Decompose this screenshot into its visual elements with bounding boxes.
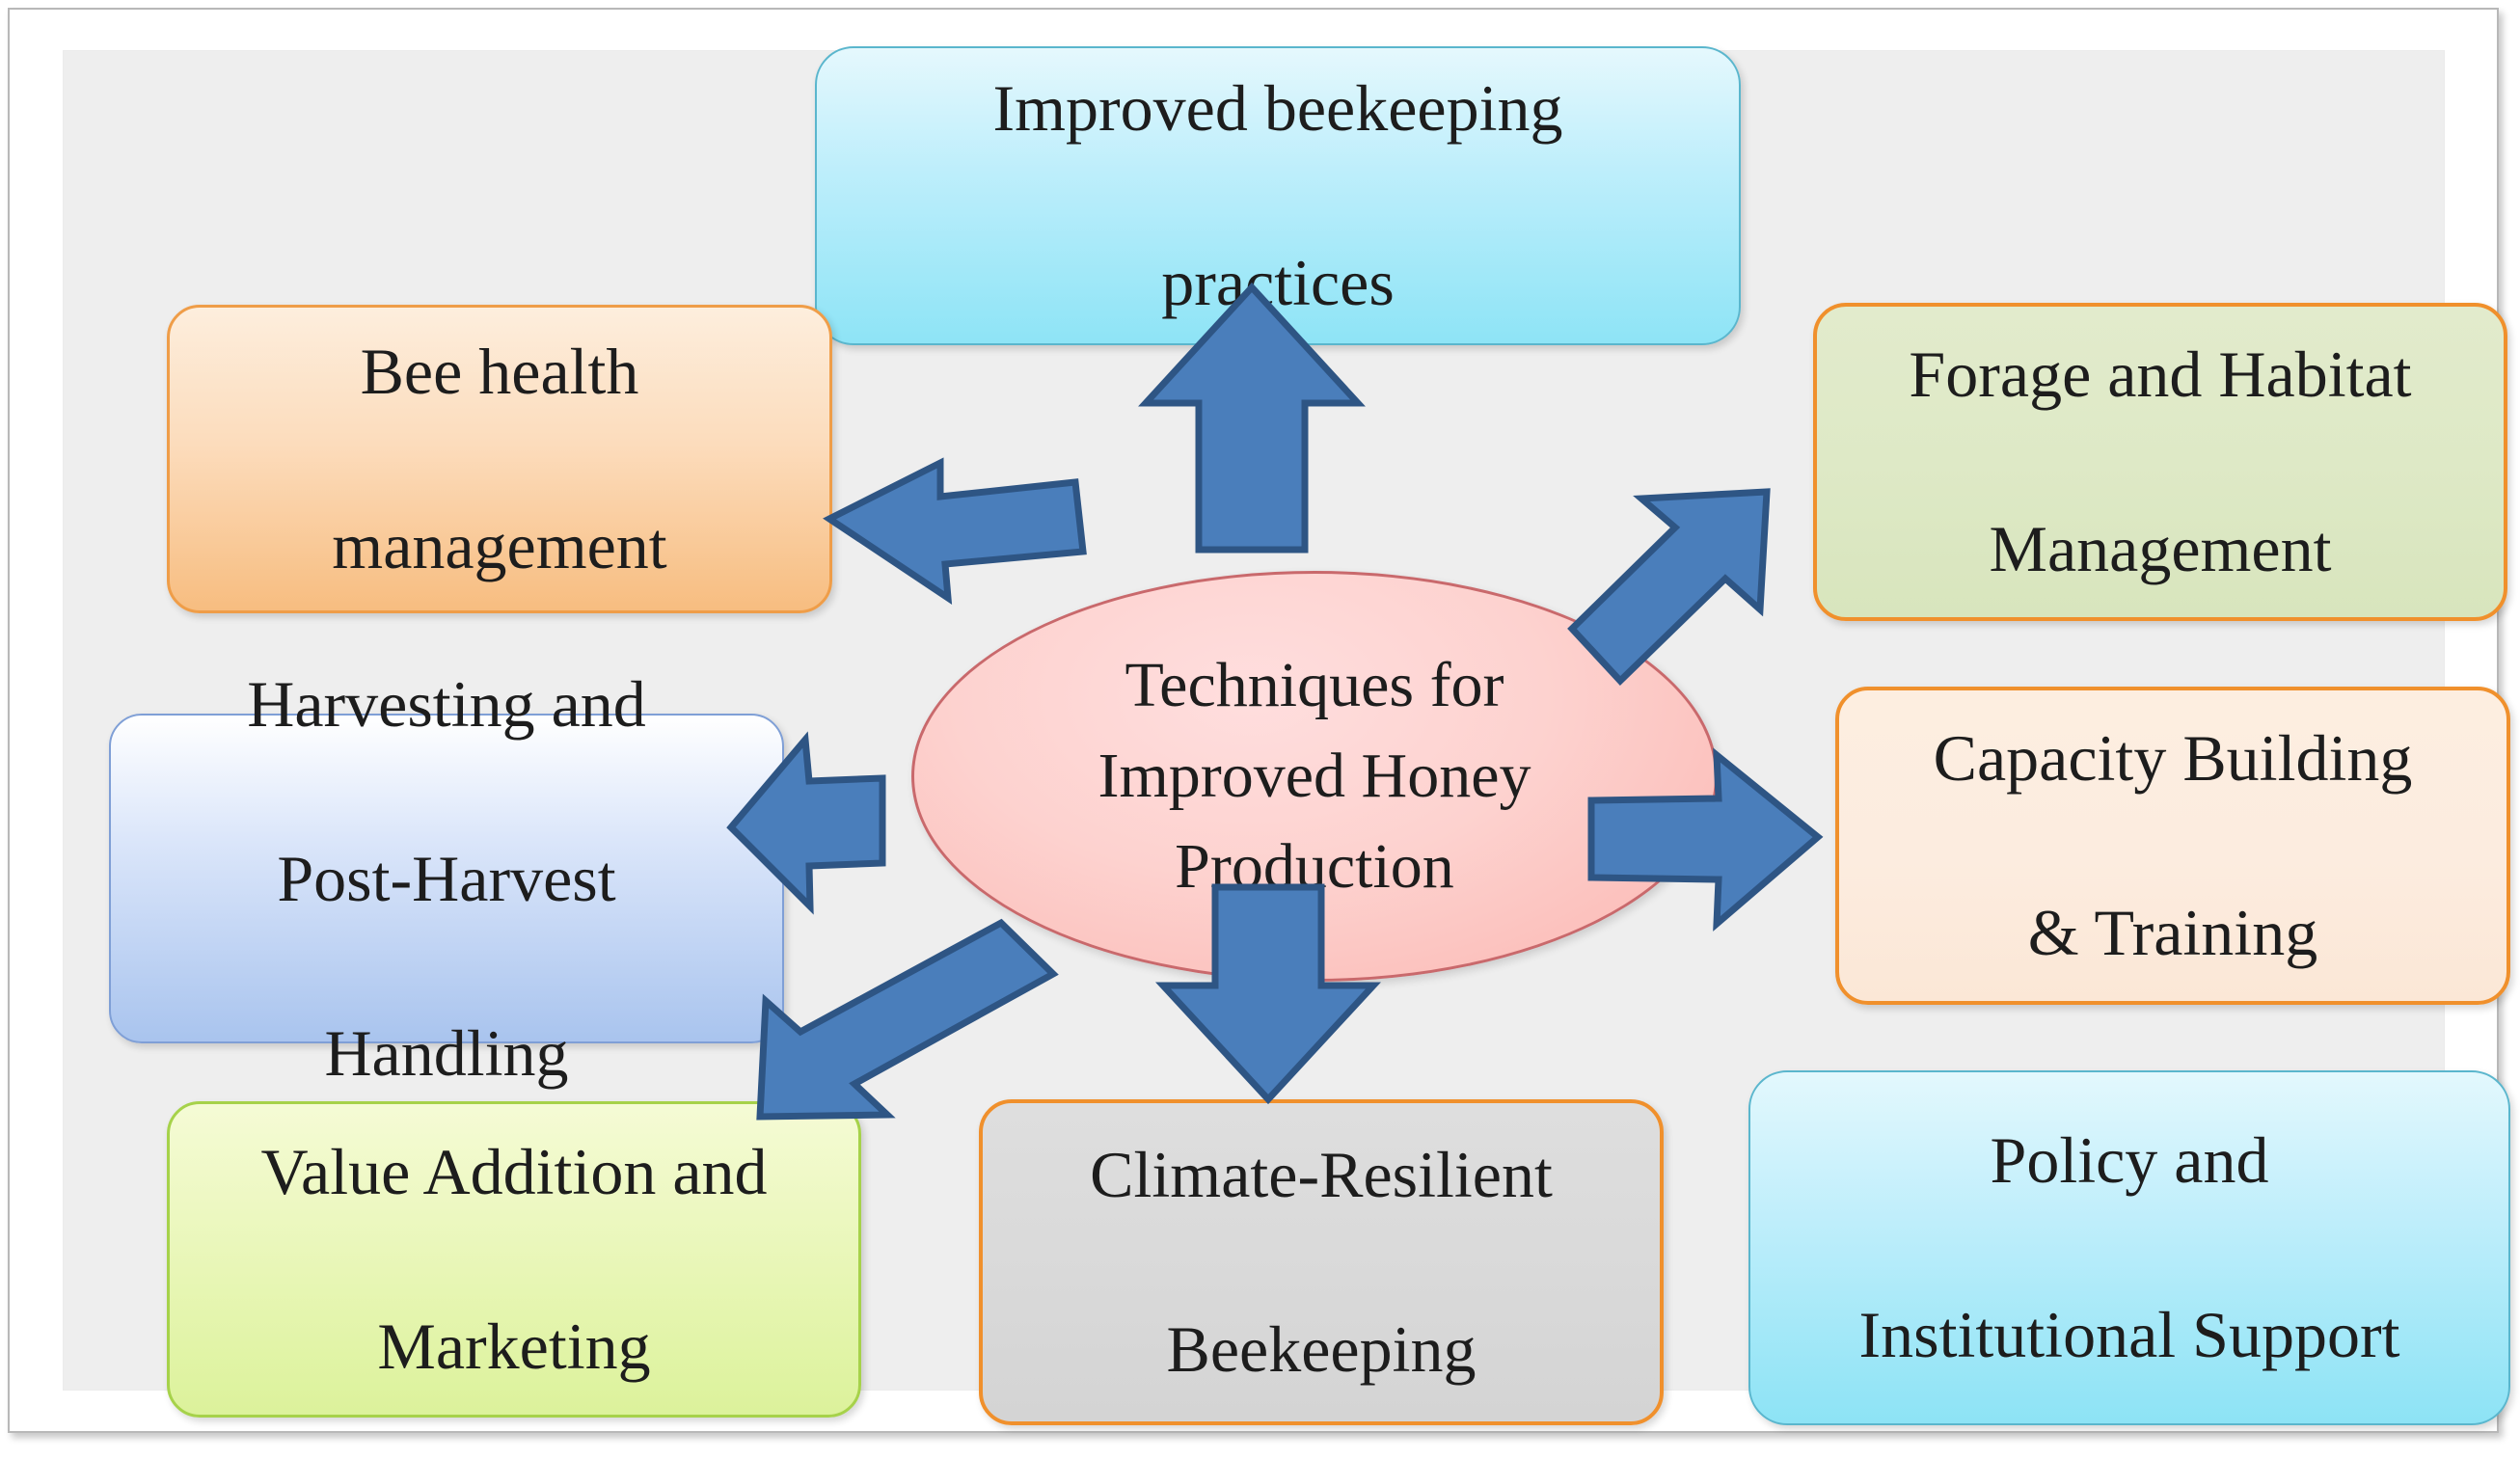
node-label-line-1: Improved beekeeping [834,65,1721,151]
node-label-line-2: Post-Harvest [128,835,765,922]
node-label-line-2: Beekeeping [1000,1306,1642,1392]
node-forage-and-habitat-management[interactable]: Forage and Habitat Management [1813,303,2507,621]
node-label-line-1: Capacity Building [1856,715,2489,801]
node-label: Bee health management [187,328,812,589]
node-label: Policy and Institutional Support [1768,1117,2491,1378]
node-label: Climate-Resilient Beekeeping [1000,1131,1642,1392]
node-label-line-1: Policy and [1768,1117,2491,1203]
node-label-line-1: Bee health [187,328,812,415]
node-harvesting-and-post-harvest-handling[interactable]: Harvesting and Post-Harvest Handling [109,714,784,1043]
node-label-line-1: Climate-Resilient [1000,1131,1642,1218]
node-label: Forage and Habitat Management [1834,331,2486,592]
hub-label-line-3: Production [1175,831,1454,902]
node-value-addition-and-marketing[interactable]: Value Addition and Marketing [167,1101,861,1418]
node-label: Value Addition and Marketing [187,1128,841,1390]
node-label: Capacity Building & Training [1856,715,2489,976]
node-label-line-3: Handling [128,1010,765,1096]
hub-label: Techniques for Improved Honey Production [1097,640,1531,911]
node-improved-beekeeping-practices[interactable]: Improved beekeeping practices [815,46,1741,345]
node-label-line-1: Harvesting and [128,661,765,747]
node-label: Improved beekeeping practices [834,65,1721,326]
node-label-line-2: Institutional Support [1768,1291,2491,1378]
diagram-frame: Improved beekeeping practices Bee health… [8,8,2499,1433]
hub-node-techniques-for-improved-honey-production[interactable]: Techniques for Improved Honey Production [911,571,1718,982]
node-bee-health-management[interactable]: Bee health management [167,305,832,613]
node-climate-resilient-beekeeping[interactable]: Climate-Resilient Beekeeping [979,1099,1664,1425]
node-label-line-2: management [187,502,812,589]
node-label-line-1: Value Addition and [187,1128,841,1215]
node-policy-and-institutional-support[interactable]: Policy and Institutional Support [1748,1070,2510,1425]
node-label-line-1: Forage and Habitat [1834,331,2486,418]
hub-label-line-1: Techniques for [1125,650,1504,720]
diagram-canvas: Improved beekeeping practices Bee health… [63,50,2445,1391]
node-label-line-2: Management [1834,505,2486,592]
hub-label-line-2: Improved Honey [1097,741,1531,811]
node-label: Harvesting and Post-Harvest Handling [128,661,765,1096]
node-label-line-2: practices [834,239,1721,326]
node-capacity-building-and-training[interactable]: Capacity Building & Training [1835,687,2510,1005]
node-label-line-2: & Training [1856,889,2489,976]
node-label-line-2: Marketing [187,1303,841,1390]
